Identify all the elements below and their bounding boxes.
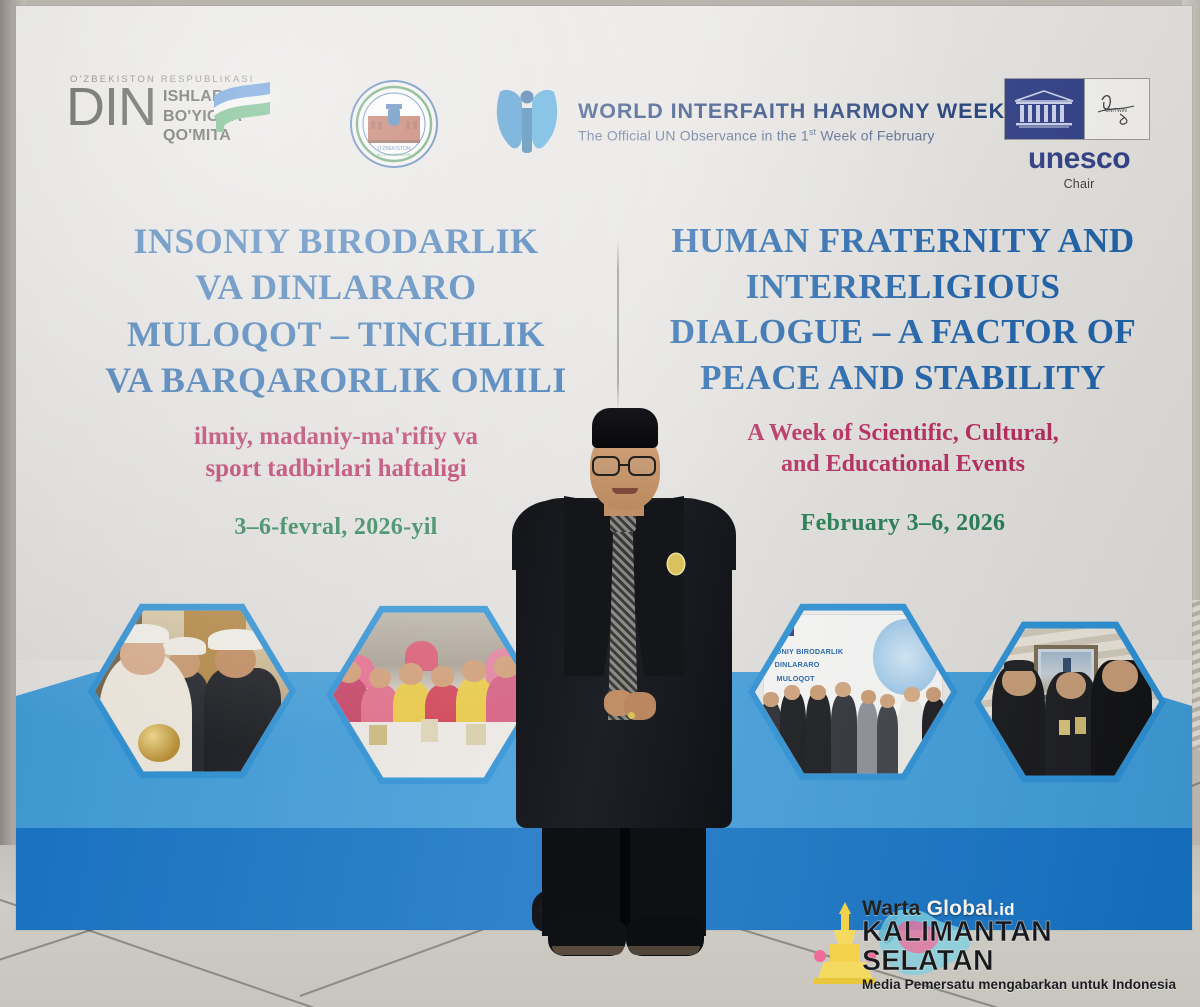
trouser-gap: [620, 828, 630, 936]
unesco-chair-logo: UNITWIN unesco Chair: [1004, 78, 1154, 191]
photo-clergy-greeting: [974, 620, 1166, 784]
photo-banner-text-3: MULOQOT: [777, 674, 815, 683]
photo-banner-text-1: SONIY BIRODARLIK: [771, 647, 844, 656]
peci-cap: [592, 408, 658, 448]
title-en-line-4: PEACE AND STABILITY: [638, 355, 1168, 401]
unesco-chair-caption: Chair: [1004, 177, 1154, 191]
wihw-title: WORLD INTERFAITH HARMONY WEEK: [578, 99, 1005, 124]
lapel-pin: [668, 554, 684, 574]
wihw-subtitle-b: Week of February: [816, 127, 934, 143]
standing-guest: [508, 404, 740, 974]
photo-pope-and-imams: [88, 602, 296, 780]
photo-scene: O'ZBEKISTON RESPUBLIKASI DIN ISHLARI BO'…: [0, 0, 1200, 1007]
eyeglasses-left-lens: [592, 456, 620, 476]
column-divider: [617, 239, 619, 411]
title-en-line-2: INTERRELIGIOUS: [638, 264, 1168, 310]
unesco-temple-icon: [1007, 88, 1081, 130]
title-uz-line-3: MULOQOT – TINCHLIK: [76, 311, 596, 357]
unesco-temple-cell: [1005, 79, 1084, 139]
uzbekistan-flag-icon: [212, 80, 274, 134]
watermark-line-2: KALIMANTAN SELATAN: [862, 918, 1186, 976]
title-uz-line-1: INSONIY BIRODARLIK: [76, 218, 596, 264]
svg-text:O'ZBEKISTON: O'ZBEKISTON: [377, 146, 410, 152]
photo-interfaith-delegation: SONIY BIRODARLIK DINLARARO MULOQOT: [748, 602, 958, 782]
eyeglasses-right-lens: [628, 456, 656, 476]
svg-text:UNITWIN: UNITWIN: [1105, 108, 1127, 114]
svg-text:ISLOM AKADEMIYASI: ISLOM AKADEMIYASI: [377, 153, 411, 157]
unesco-wordmark: unesco: [1004, 144, 1154, 174]
watermark-line-3: Media Pemersatu mengabarkan untuk Indone…: [862, 977, 1186, 992]
watermark: Warta Global.id KALIMANTAN SELATAN Media…: [806, 896, 1186, 996]
wihw-subtitle-a: The Official UN Observance in the 1: [578, 127, 809, 143]
unesco-box: UNITWIN: [1004, 78, 1150, 140]
title-uz-line-2: VA DINLARARO: [76, 264, 596, 310]
mouth: [612, 488, 638, 494]
shoe-sole-right: [628, 946, 700, 955]
unesco-signature-cell: UNITWIN: [1084, 79, 1149, 139]
title-en: HUMAN FRATERNITY AND INTERRELIGIOUS DIAL…: [638, 218, 1168, 400]
logo-strip: O'ZBEKISTON RESPUBLIKASI DIN ISHLARI BO'…: [16, 68, 1192, 178]
photo-banner-text-2: DINLARARO: [775, 660, 820, 669]
eyeglasses-bridge: [620, 464, 628, 466]
islamic-academy-emblem-icon: O'ZBEKISTON ISLOM AKADEMIYASI: [346, 78, 442, 170]
world-interfaith-harmony-week-logo: WORLD INTERFAITH HARMONY WEEK The Offici…: [492, 84, 1005, 158]
title-uz: INSONIY BIRODARLIK VA DINLARARO MULOQOT …: [76, 218, 596, 404]
finger-ring: [628, 712, 635, 719]
shoe-sole-left: [552, 946, 624, 955]
watermark-text: Warta Global.id KALIMANTAN SELATAN Media…: [862, 898, 1186, 992]
interfaith-butterfly-icon: [492, 84, 562, 158]
unesco-signature-icon: UNITWIN: [1090, 88, 1144, 130]
wihw-subtitle: The Official UN Observance in the 1st We…: [578, 127, 1005, 144]
title-en-line-3: DIALOGUE – A FACTOR OF: [638, 309, 1168, 355]
din-acronym: DIN: [66, 82, 156, 133]
title-uz-line-4: VA BARQARORLIK OMILI: [76, 357, 596, 403]
title-en-line-1: HUMAN FRATERNITY AND: [638, 218, 1168, 264]
